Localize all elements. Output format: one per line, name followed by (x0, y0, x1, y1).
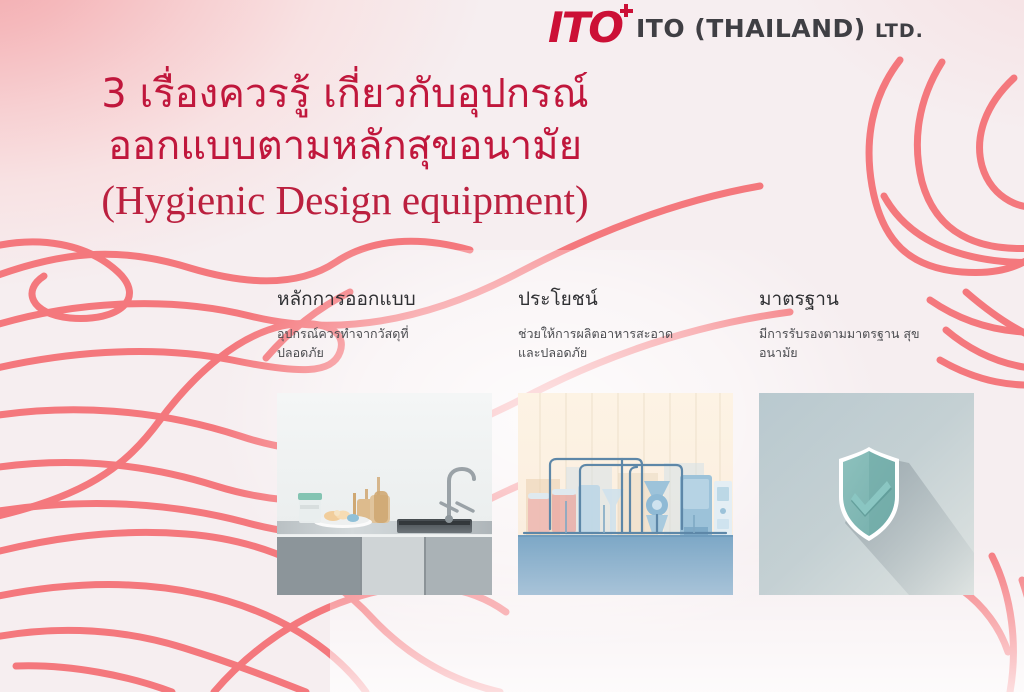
columns-text-row: หลักการออกแบบ อุปกรณ์ควรทำจากวัสดุที่ ปล… (277, 288, 1001, 363)
food-processing-plant-illustration (518, 393, 733, 595)
column-body: ช่วยให้การผลิตอาหารสะอาด และปลอดภัย (518, 324, 698, 363)
brand-logo: ITO ITO (THAILAND) LTD. (548, 4, 924, 52)
column-heading: มาตรฐาน (759, 288, 1000, 311)
ito-logo-text: ITO (548, 3, 622, 52)
company-name-main: ITO (THAILAND) (636, 14, 866, 43)
headline-line-1: 3 เรื่องควรรู้ เกี่ยวกับอุปกรณ์ (0, 68, 690, 120)
headline-line-3: (Hygienic Design equipment) (0, 175, 690, 226)
page-title: 3 เรื่องควรรู้ เกี่ยวกับอุปกรณ์ ออกแบบตา… (0, 68, 690, 226)
column-body: อุปกรณ์ควรทำจากวัสดุที่ ปลอดภัย (277, 324, 457, 363)
column-body: มีการรับรองตามมาตรฐาน สุขอนามัย (759, 324, 939, 363)
poster-canvas: ITO ITO (THAILAND) LTD. 3 เรื่องควรรู้ เ… (0, 0, 1024, 692)
column-benefit: ประโยชน์ ช่วยให้การผลิตอาหารสะอาด และปลอ… (518, 288, 759, 363)
plus-icon (620, 4, 633, 17)
column-standard: มาตรฐาน มีการรับรองตามมาตรฐาน สุขอนามัย (759, 288, 1000, 363)
column-heading: หลักการออกแบบ (277, 288, 518, 311)
ito-logo-mark: ITO (548, 7, 622, 49)
column-heading: ประโยชน์ (518, 288, 759, 311)
image-cards-row (277, 393, 1001, 595)
kitchen-counter-sink-illustration (277, 393, 492, 595)
company-name: ITO (THAILAND) LTD. (636, 14, 924, 43)
headline-line-2: ออกแบบตามหลักสุขอนามัย (0, 120, 690, 172)
column-design-principle: หลักการออกแบบ อุปกรณ์ควรทำจากวัสดุที่ ปล… (277, 288, 518, 363)
company-name-suffix: LTD. (875, 20, 924, 42)
shield-checkmark-illustration (759, 393, 974, 595)
